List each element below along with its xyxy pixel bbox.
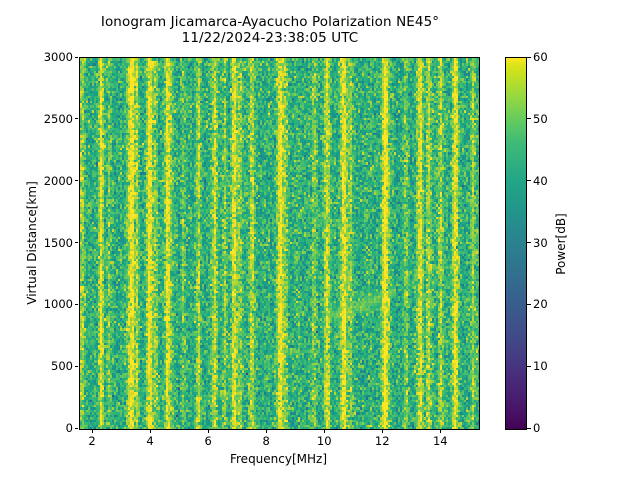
y-axis-label-wrapper: Virtual Distance[km] [5, 53, 25, 433]
x-tick-label: 14 [420, 434, 460, 448]
colorbar-tick-mark [527, 180, 531, 181]
y-tick-mark [75, 304, 79, 305]
colorbar-tick-mark [527, 57, 531, 58]
x-tick-mark [440, 429, 441, 433]
colorbar-tick-label: 10 [533, 359, 548, 373]
y-tick-mark [75, 428, 79, 429]
colorbar-tick-mark [527, 118, 531, 119]
x-tick-label: 8 [246, 434, 286, 448]
x-tick-mark [324, 429, 325, 433]
colorbar-tick-mark [527, 428, 531, 429]
heatmap-plot-area [79, 57, 480, 430]
x-tick-mark [382, 429, 383, 433]
colorbar-tick-mark [527, 366, 531, 367]
colorbar [505, 57, 527, 430]
x-tick-label: 6 [188, 434, 228, 448]
y-tick-mark [75, 118, 79, 119]
colorbar-tick-mark [527, 304, 531, 305]
chart-title-line-1: Ionogram Jicamarca-Ayacucho Polarization… [0, 14, 540, 30]
chart-title-line-2: 11/22/2024-23:38:05 UTC [0, 30, 540, 46]
y-axis-label: Virtual Distance[km] [25, 143, 39, 343]
y-tick-mark [75, 366, 79, 367]
colorbar-tick-label: 60 [533, 50, 548, 64]
y-tick-mark [75, 57, 79, 58]
colorbar-tick-mark [527, 242, 531, 243]
x-tick-mark [92, 429, 93, 433]
x-tick-mark [208, 429, 209, 433]
y-tick-mark [75, 180, 79, 181]
x-tick-label: 12 [362, 434, 402, 448]
x-tick-mark [266, 429, 267, 433]
colorbar-tick-label: 20 [533, 297, 548, 311]
colorbar-tick-label: 0 [533, 421, 540, 435]
chart-title: Ionogram Jicamarca-Ayacucho Polarization… [0, 14, 540, 46]
x-tick-label: 2 [72, 434, 112, 448]
x-axis-label: Frequency[MHz] [79, 452, 478, 466]
y-tick-mark [75, 242, 79, 243]
colorbar-tick-label: 40 [533, 174, 548, 188]
x-tick-mark [150, 429, 151, 433]
ionogram-figure: Ionogram Jicamarca-Ayacucho Polarization… [0, 0, 640, 480]
colorbar-tick-label: 50 [533, 112, 548, 126]
ionogram-heatmap [80, 58, 479, 429]
x-tick-label: 10 [304, 434, 344, 448]
colorbar-tick-label: 30 [533, 236, 548, 250]
colorbar-label: Power[dB] [554, 179, 568, 309]
colorbar-label-wrapper: Power[dB] [553, 180, 569, 310]
x-tick-label: 4 [130, 434, 170, 448]
